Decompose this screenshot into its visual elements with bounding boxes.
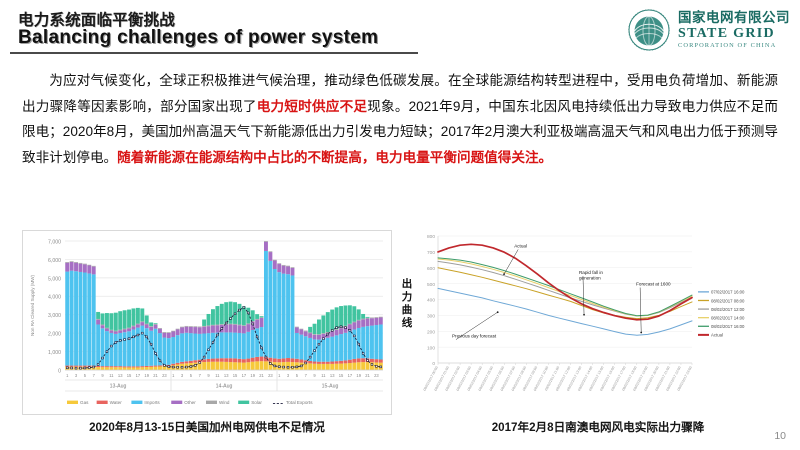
svg-text:15-Aug: 15-Aug bbox=[322, 384, 339, 390]
logo-name-cn: 国家电网有限公司 bbox=[678, 11, 790, 25]
svg-text:Imports: Imports bbox=[144, 400, 160, 405]
svg-text:11: 11 bbox=[109, 373, 114, 378]
caption-left-chart: 2020年8月13-15日美国加州电网供电不足情况 bbox=[22, 419, 392, 435]
svg-text:15: 15 bbox=[233, 373, 238, 378]
svg-text:2,000: 2,000 bbox=[48, 332, 61, 338]
svg-text:08/02/2017 12:00: 08/02/2017 12:00 bbox=[711, 307, 745, 312]
svg-text:23: 23 bbox=[162, 373, 167, 378]
svg-text:13: 13 bbox=[224, 373, 229, 378]
svg-text:11: 11 bbox=[215, 373, 220, 378]
svg-text:3,000: 3,000 bbox=[48, 313, 61, 319]
svg-text:700: 700 bbox=[427, 250, 435, 256]
svg-text:5,000: 5,000 bbox=[48, 276, 61, 282]
svg-text:08/02/2017 16:00: 08/02/2017 16:00 bbox=[711, 324, 745, 329]
svg-text:6,000: 6,000 bbox=[48, 258, 61, 264]
page-number: 10 bbox=[774, 430, 786, 442]
svg-text:Non RA Cleared Supply (MW): Non RA Cleared Supply (MW) bbox=[30, 275, 35, 336]
slide-header: 电力系统面临平衡挑战 Balancing challenges of power… bbox=[0, 0, 800, 62]
svg-text:08/02/2017 14:00: 08/02/2017 14:00 bbox=[711, 315, 745, 320]
body-paragraph: 为应对气候变化，全球正积极推进气候治理，推动绿色低碳发展。在全球能源结构转型进程… bbox=[22, 68, 778, 170]
svg-text:Other: Other bbox=[184, 400, 196, 405]
svg-text:Actual: Actual bbox=[711, 333, 723, 338]
logo-name-en: STATE GRID bbox=[678, 27, 790, 41]
svg-text:Water: Water bbox=[110, 400, 123, 405]
body-highlight-1: 电力短时供应不足 bbox=[257, 99, 367, 114]
svg-text:19: 19 bbox=[250, 373, 255, 378]
svg-text:Previous day forecast: Previous day forecast bbox=[452, 334, 497, 339]
svg-text:0: 0 bbox=[58, 368, 61, 374]
svg-text:17: 17 bbox=[136, 373, 141, 378]
svg-text:300: 300 bbox=[427, 314, 435, 320]
svg-text:Gas: Gas bbox=[80, 400, 89, 405]
svg-text:800: 800 bbox=[427, 234, 435, 240]
title-divider bbox=[10, 52, 418, 54]
svg-text:08/02/2017 08:00: 08/02/2017 08:00 bbox=[711, 298, 745, 303]
svg-text:11: 11 bbox=[321, 373, 326, 378]
svg-text:Solar: Solar bbox=[251, 400, 262, 405]
svg-text:13: 13 bbox=[118, 373, 123, 378]
svg-text:23: 23 bbox=[268, 373, 273, 378]
svg-text:4,000: 4,000 bbox=[48, 295, 61, 301]
svg-text:generation: generation bbox=[579, 276, 601, 281]
svg-text:17: 17 bbox=[348, 373, 353, 378]
right-chart-axis-label: 出力曲线 bbox=[400, 278, 414, 330]
svg-text:Wind: Wind bbox=[219, 400, 230, 405]
svg-text:Total Exports: Total Exports bbox=[286, 400, 313, 405]
svg-text:Actual: Actual bbox=[514, 243, 527, 248]
svg-text:19: 19 bbox=[144, 373, 149, 378]
caption-right-chart: 2017年2月8日南澳电网风电实际出力骤降 bbox=[412, 419, 784, 435]
svg-text:15: 15 bbox=[339, 373, 344, 378]
state-grid-logo: 国家电网有限公司 STATE GRID CORPORATION OF CHINA bbox=[627, 8, 790, 52]
chart-south-australia-wind: 010020030040050060070080008/02/2017 00:0… bbox=[412, 230, 784, 415]
svg-text:100: 100 bbox=[427, 345, 435, 351]
page-title-en: Balancing challenges of power system bbox=[18, 27, 378, 49]
svg-text:200: 200 bbox=[427, 329, 435, 335]
svg-text:400: 400 bbox=[427, 298, 435, 304]
svg-text:21: 21 bbox=[259, 373, 264, 378]
svg-text:15: 15 bbox=[127, 373, 132, 378]
svg-text:1,000: 1,000 bbox=[48, 350, 61, 356]
logo-subtitle: CORPORATION OF CHINA bbox=[678, 43, 790, 49]
svg-text:13: 13 bbox=[330, 373, 335, 378]
body-highlight-2: 随着新能源在能源结构中占比的不断提高，电力电量平衡问题值得关注。 bbox=[117, 150, 552, 165]
svg-text:Rapid fall in: Rapid fall in bbox=[579, 270, 603, 275]
chart-california-supply: 01,0002,0003,0004,0005,0006,0007,000Non … bbox=[22, 230, 392, 415]
svg-text:21: 21 bbox=[153, 373, 158, 378]
svg-text:Forecast at 1600: Forecast at 1600 bbox=[636, 282, 671, 287]
svg-text:7,000: 7,000 bbox=[48, 239, 61, 245]
svg-text:19: 19 bbox=[356, 373, 361, 378]
svg-text:14-Aug: 14-Aug bbox=[216, 384, 233, 390]
svg-text:23: 23 bbox=[374, 373, 379, 378]
svg-text:17: 17 bbox=[242, 373, 247, 378]
globe-icon bbox=[627, 8, 671, 52]
svg-text:21: 21 bbox=[365, 373, 370, 378]
svg-text:600: 600 bbox=[427, 266, 435, 272]
svg-text:500: 500 bbox=[427, 282, 435, 288]
svg-text:07/02/2017 16:00: 07/02/2017 16:00 bbox=[711, 290, 745, 295]
svg-text:13-Aug: 13-Aug bbox=[110, 384, 127, 390]
